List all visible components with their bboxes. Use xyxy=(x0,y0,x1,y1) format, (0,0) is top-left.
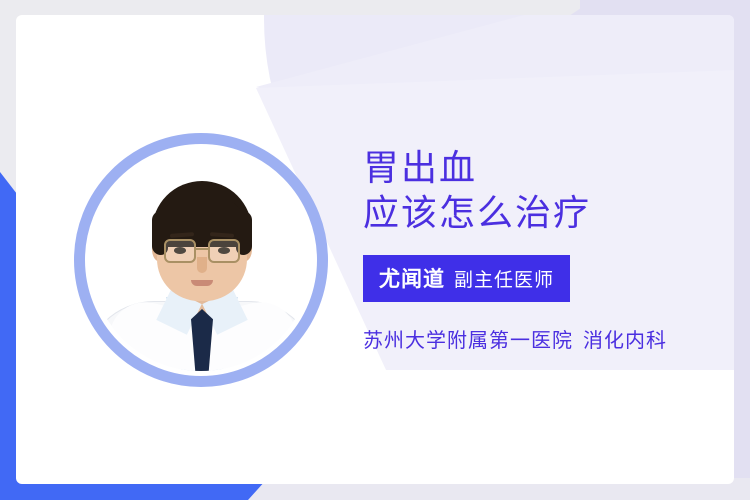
page-title-line-1: 胃出血 xyxy=(363,145,723,190)
accent-bar-left xyxy=(0,172,17,472)
department-name: 消化内科 xyxy=(583,330,667,352)
content-card: 胃出血 应该怎么治疗 尤闻道副主任医师 苏州大学附属第一医院消化内科 xyxy=(16,15,734,484)
doctor-info-card-banner: 胃出血 应该怎么治疗 尤闻道副主任医师 苏州大学附属第一医院消化内科 xyxy=(0,0,750,500)
avatar xyxy=(74,133,328,387)
doctor-name-badge: 尤闻道副主任医师 xyxy=(363,255,570,302)
affiliation: 苏州大学附属第一医院消化内科 xyxy=(363,324,723,353)
avatar-ring xyxy=(74,133,328,387)
page-title-line-2: 应该怎么治疗 xyxy=(363,190,723,235)
doctor-rank: 副主任医师 xyxy=(454,270,554,291)
text-column: 胃出血 应该怎么治疗 尤闻道副主任医师 苏州大学附属第一医院消化内科 xyxy=(363,145,723,353)
hospital-name: 苏州大学附属第一医院 xyxy=(363,330,573,352)
doctor-name: 尤闻道 xyxy=(379,268,445,291)
